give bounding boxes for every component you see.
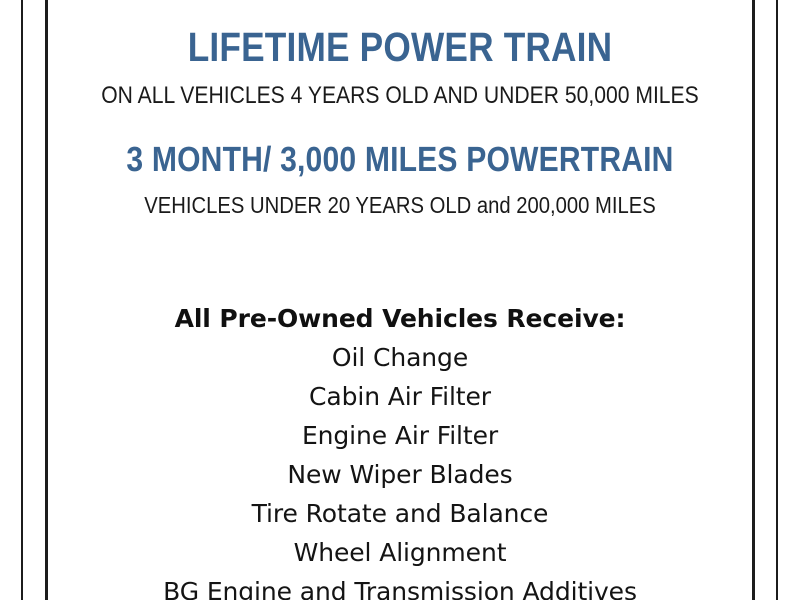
flyer-page: LIFETIME POWER TRAIN ON ALL VEHICLES 4 Y… — [0, 0, 800, 600]
services-section-title: All Pre-Owned Vehicles Receive: — [48, 300, 752, 338]
border-rule-right-outer — [776, 0, 778, 600]
list-item: New Wiper Blades — [48, 455, 752, 494]
list-item: Cabin Air Filter — [48, 377, 752, 416]
list-item: Wheel Alignment — [48, 533, 752, 572]
flyer-content: LIFETIME POWER TRAIN ON ALL VEHICLES 4 Y… — [48, 0, 752, 600]
list-item: Oil Change — [48, 338, 752, 377]
services-section: All Pre-Owned Vehicles Receive: Oil Chan… — [48, 300, 752, 600]
list-item: Engine Air Filter — [48, 416, 752, 455]
services-list: Oil Change Cabin Air Filter Engine Air F… — [48, 338, 752, 600]
warranty-subline-3month-powertrain: VEHICLES UNDER 20 YEARS OLD and 200,000 … — [90, 194, 710, 217]
border-rule-right-inner — [752, 0, 755, 600]
warranty-headline-lifetime-powertrain: LIFETIME POWER TRAIN — [97, 27, 702, 68]
list-item: Tire Rotate and Balance — [48, 494, 752, 533]
warranty-headline-3month-powertrain: 3 MONTH/ 3,000 MILES POWERTRAIN — [97, 142, 702, 177]
list-item: BG Engine and Transmission Additives — [48, 572, 752, 600]
warranty-subline-lifetime-powertrain: ON ALL VEHICLES 4 YEARS OLD AND UNDER 50… — [90, 84, 710, 108]
border-rule-left-outer — [21, 0, 23, 600]
